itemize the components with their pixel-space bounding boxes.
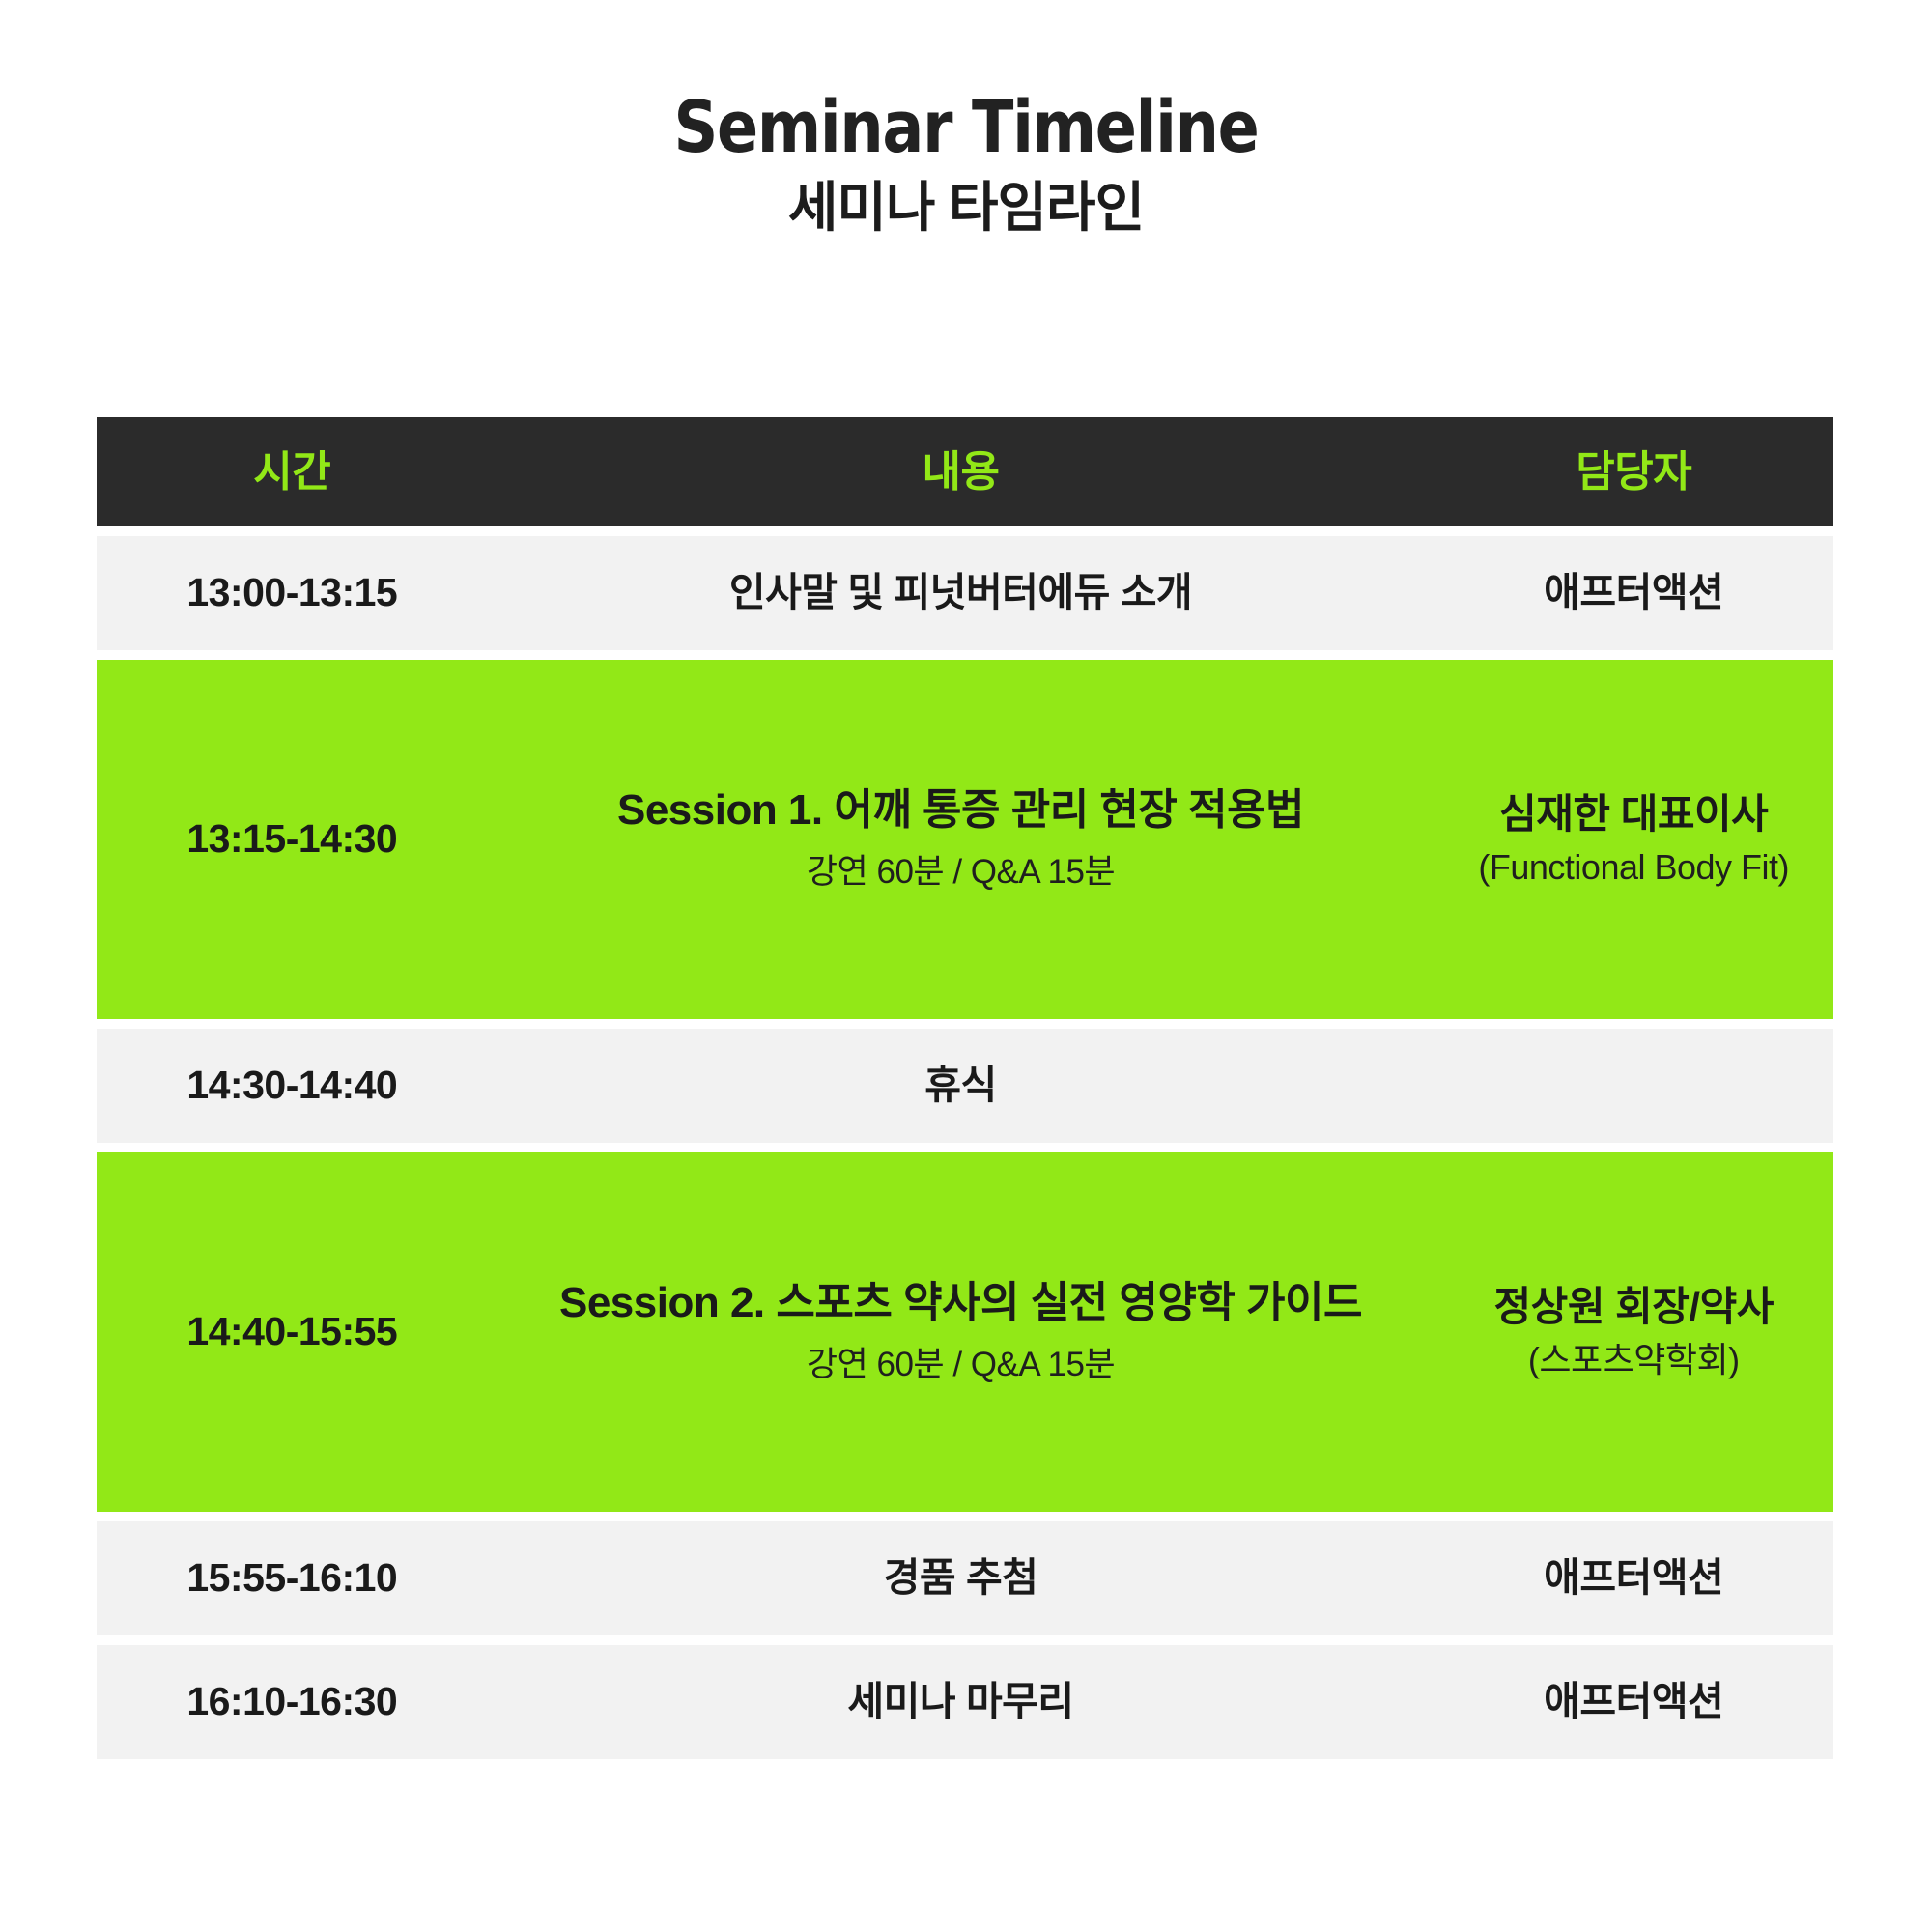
row-owner-cell: 심재한 대표이사 (Functional Body Fit) (1434, 791, 1833, 887)
row-owner-name: 애프터액션 (1544, 1555, 1723, 1601)
row-time-cell: 14:40-15:55 (97, 1310, 488, 1353)
row-owner-affiliation: (스포츠약학회) (1528, 1339, 1740, 1380)
row-content-cell: 세미나 마무리 (488, 1679, 1435, 1724)
row-owner-cell: 애프터액션 (1434, 570, 1833, 615)
page-title-english: Seminar Timeline (135, 92, 1797, 163)
row-content-cell: 휴식 (488, 1063, 1435, 1108)
row-owner-cell: 애프터액션 (1434, 1679, 1833, 1724)
row-content-title: 휴식 (924, 1063, 996, 1108)
row-time-value: 16:10-16:30 (186, 1680, 397, 1723)
row-owner-name: 정상원 회장/약사 (1494, 1284, 1774, 1330)
row-owner-name: 애프터액션 (1544, 1679, 1723, 1724)
table-row-session-2: 14:40-15:55 Session 2. 스포츠 약사의 실전 영양학 가이… (97, 1152, 1833, 1512)
column-header-content-label: 내용 (923, 451, 1000, 494)
row-time-cell: 15:55-16:10 (97, 1556, 488, 1600)
row-content-title: 세미나 마무리 (847, 1679, 1073, 1724)
row-owner-name: 애프터액션 (1544, 570, 1723, 615)
row-owner-cell: 정상원 회장/약사 (스포츠약학회) (1434, 1284, 1833, 1379)
column-header-content: 내용 (488, 451, 1435, 494)
row-owner-name: 심재한 대표이사 (1499, 791, 1768, 838)
row-content-cell: Session 1. 어깨 통증 관리 현장 적용법 강연 60분 / Q&A … (488, 786, 1435, 894)
row-time-cell: 13:00-13:15 (97, 571, 488, 614)
row-content-cell: Session 2. 스포츠 약사의 실전 영양학 가이드 강연 60분 / Q… (488, 1279, 1435, 1386)
row-time-value: 15:55-16:10 (186, 1556, 397, 1600)
row-time-value: 13:15-14:30 (186, 817, 397, 861)
column-header-owner-label: 담당자 (1576, 451, 1691, 494)
row-time-value: 14:30-14:40 (186, 1064, 397, 1107)
table-row: 16:10-16:30 세미나 마무리 애프터액션 (97, 1645, 1833, 1759)
row-owner-affiliation: (Functional Body Fit) (1478, 846, 1789, 888)
row-content-title: Session 1. 어깨 통증 관리 현장 적용법 (617, 786, 1304, 836)
seminar-timeline-page: Seminar Timeline 세미나 타임라인 시간 내용 담당자 13:0… (0, 0, 1932, 1932)
row-time-cell: 13:15-14:30 (97, 817, 488, 861)
row-content-title: Session 2. 스포츠 약사의 실전 영양학 가이드 (559, 1279, 1362, 1328)
row-content-title: 인사말 및 피넛버터에듀 소개 (729, 570, 1192, 615)
table-row-break: 14:30-14:40 휴식 (97, 1029, 1833, 1143)
table-header-row: 시간 내용 담당자 (97, 417, 1833, 526)
table-row: 15:55-16:10 경품 추첨 애프터액션 (97, 1521, 1833, 1635)
row-content-title: 경품 추첨 (884, 1555, 1038, 1601)
row-owner-cell (1434, 1086, 1833, 1087)
timeline-table: 시간 내용 담당자 13:00-13:15 인사말 및 피넛버터에듀 소개 애프… (97, 417, 1833, 1759)
column-header-time: 시간 (97, 451, 488, 494)
row-time-value: 13:00-13:15 (186, 571, 397, 614)
column-header-time-label: 시간 (253, 451, 330, 494)
row-owner-cell: 애프터액션 (1434, 1555, 1833, 1601)
table-row: 13:00-13:15 인사말 및 피넛버터에듀 소개 애프터액션 (97, 536, 1833, 650)
page-title-block: Seminar Timeline 세미나 타임라인 (0, 0, 1932, 239)
row-content-subtitle: 강연 60분 / Q&A 15분 (807, 1345, 1115, 1385)
row-content-subtitle: 강연 60분 / Q&A 15분 (807, 852, 1115, 893)
page-title-korean: 세미나 타임라인 (0, 177, 1932, 239)
row-time-cell: 14:30-14:40 (97, 1064, 488, 1107)
row-content-cell: 경품 추첨 (488, 1555, 1435, 1601)
row-time-cell: 16:10-16:30 (97, 1680, 488, 1723)
row-time-value: 14:40-15:55 (186, 1310, 397, 1353)
row-content-cell: 인사말 및 피넛버터에듀 소개 (488, 570, 1435, 615)
table-row-session-1: 13:15-14:30 Session 1. 어깨 통증 관리 현장 적용법 강… (97, 660, 1833, 1019)
column-header-owner: 담당자 (1434, 451, 1833, 494)
